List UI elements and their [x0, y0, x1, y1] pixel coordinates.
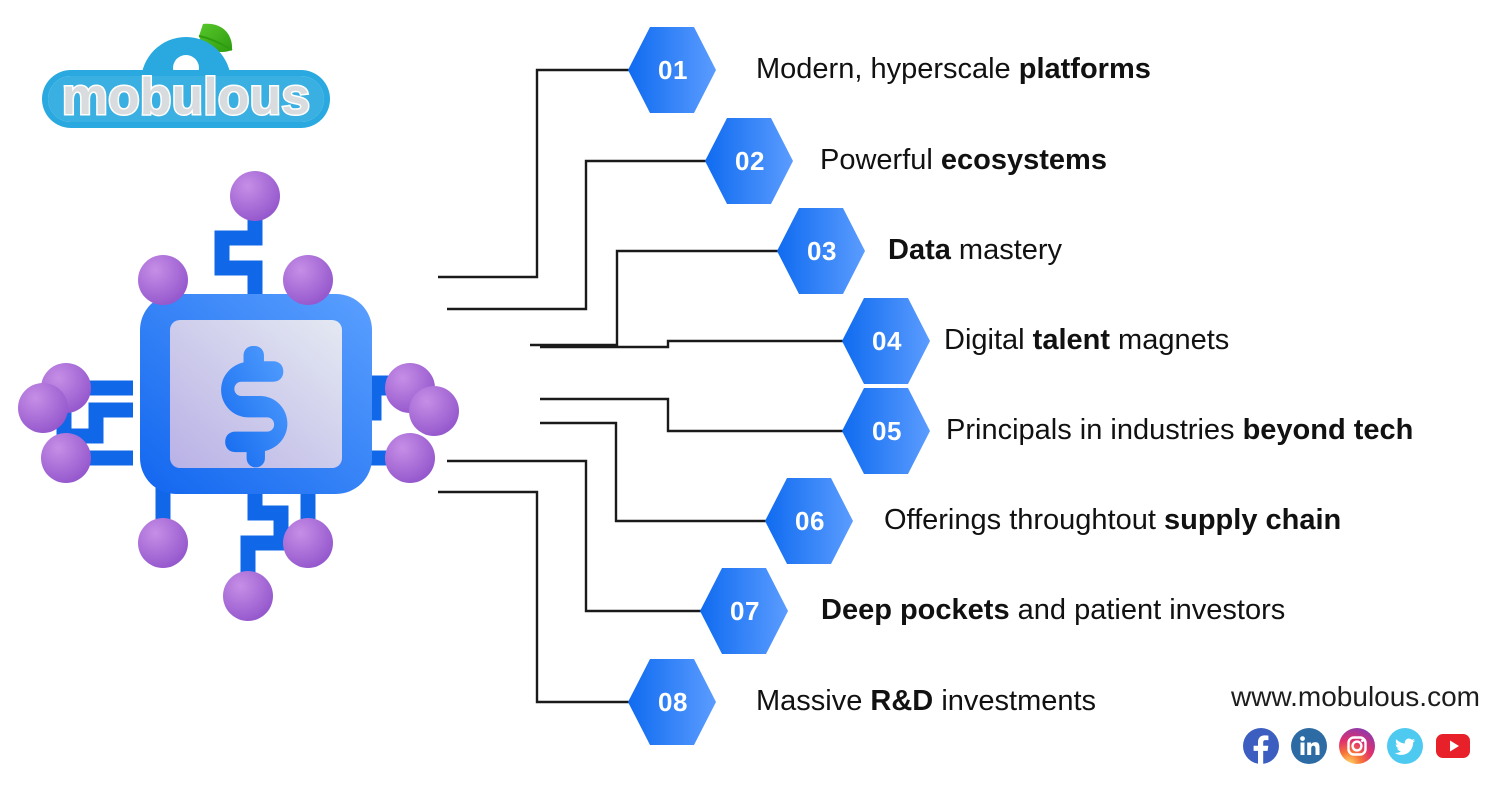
item-label-02: Powerful ecosystems	[820, 143, 1107, 177]
item-label-05-pre: Principals in industries	[946, 414, 1243, 446]
twitter-icon[interactable]	[1387, 728, 1423, 764]
website-url[interactable]: www.mobulous.com	[1231, 681, 1480, 713]
item-label-04: Digital talent magnets	[944, 323, 1229, 357]
hex-number-05: 05	[842, 388, 930, 474]
facebook-icon[interactable]	[1243, 728, 1279, 764]
item-label-01-bold: platforms	[1019, 53, 1151, 85]
infographic-canvas: mobulous	[0, 0, 1501, 786]
item-label-03-post: mastery	[951, 234, 1062, 266]
mobulous-logo: mobulous	[36, 16, 336, 156]
item-label-08-pre: Massive	[756, 685, 870, 717]
hex-badge-07[interactable]: 07	[700, 568, 788, 654]
item-label-03: Data mastery	[888, 233, 1062, 267]
hex-number-06: 06	[765, 478, 853, 564]
item-label-04-pre: Digital	[944, 324, 1033, 356]
item-label-02-bold: ecosystems	[941, 144, 1107, 176]
item-label-01-pre: Modern, hyperscale	[756, 53, 1019, 85]
item-label-06-pre: Offerings throughtout	[884, 504, 1164, 536]
microchip-dollar-icon	[18, 168, 488, 648]
hex-badge-02[interactable]: 02	[705, 118, 793, 204]
hex-number-07: 07	[700, 568, 788, 654]
item-label-08-post: investments	[933, 685, 1096, 717]
instagram-icon[interactable]	[1339, 728, 1375, 764]
item-label-01: Modern, hyperscale platforms	[756, 52, 1151, 86]
hex-badge-06[interactable]: 06	[765, 478, 853, 564]
hex-badge-04[interactable]: 04	[842, 298, 930, 384]
item-label-04-post: magnets	[1110, 324, 1229, 356]
hex-number-03: 03	[777, 208, 865, 294]
hex-number-04: 04	[842, 298, 930, 384]
hex-number-02: 02	[705, 118, 793, 204]
item-label-06-bold: supply chain	[1164, 504, 1341, 536]
item-label-04-bold: talent	[1033, 324, 1110, 356]
item-label-02-pre: Powerful	[820, 144, 941, 176]
social-links	[1243, 728, 1471, 764]
linkedin-icon[interactable]	[1291, 728, 1327, 764]
hex-badge-03[interactable]: 03	[777, 208, 865, 294]
hex-badge-08[interactable]: 08	[628, 659, 716, 745]
item-label-03-bold: Data	[888, 234, 951, 266]
hex-badge-01[interactable]: 01	[628, 27, 716, 113]
youtube-icon[interactable]	[1435, 728, 1471, 764]
item-label-05: Principals in industries beyond tech	[946, 413, 1413, 447]
item-label-08-bold: R&D	[870, 685, 933, 717]
item-label-07-post: and patient investors	[1010, 594, 1286, 626]
logo-wordmark: mobulous	[62, 68, 310, 126]
hex-number-01: 01	[628, 27, 716, 113]
item-label-08: Massive R&D investments	[756, 684, 1096, 718]
item-label-05-bold: beyond tech	[1243, 414, 1414, 446]
item-label-07: Deep pockets and patient investors	[821, 593, 1285, 627]
hex-number-08: 08	[628, 659, 716, 745]
item-label-07-bold: Deep pockets	[821, 594, 1010, 626]
hex-badge-05[interactable]: 05	[842, 388, 930, 474]
item-label-06: Offerings throughtout supply chain	[884, 503, 1341, 537]
